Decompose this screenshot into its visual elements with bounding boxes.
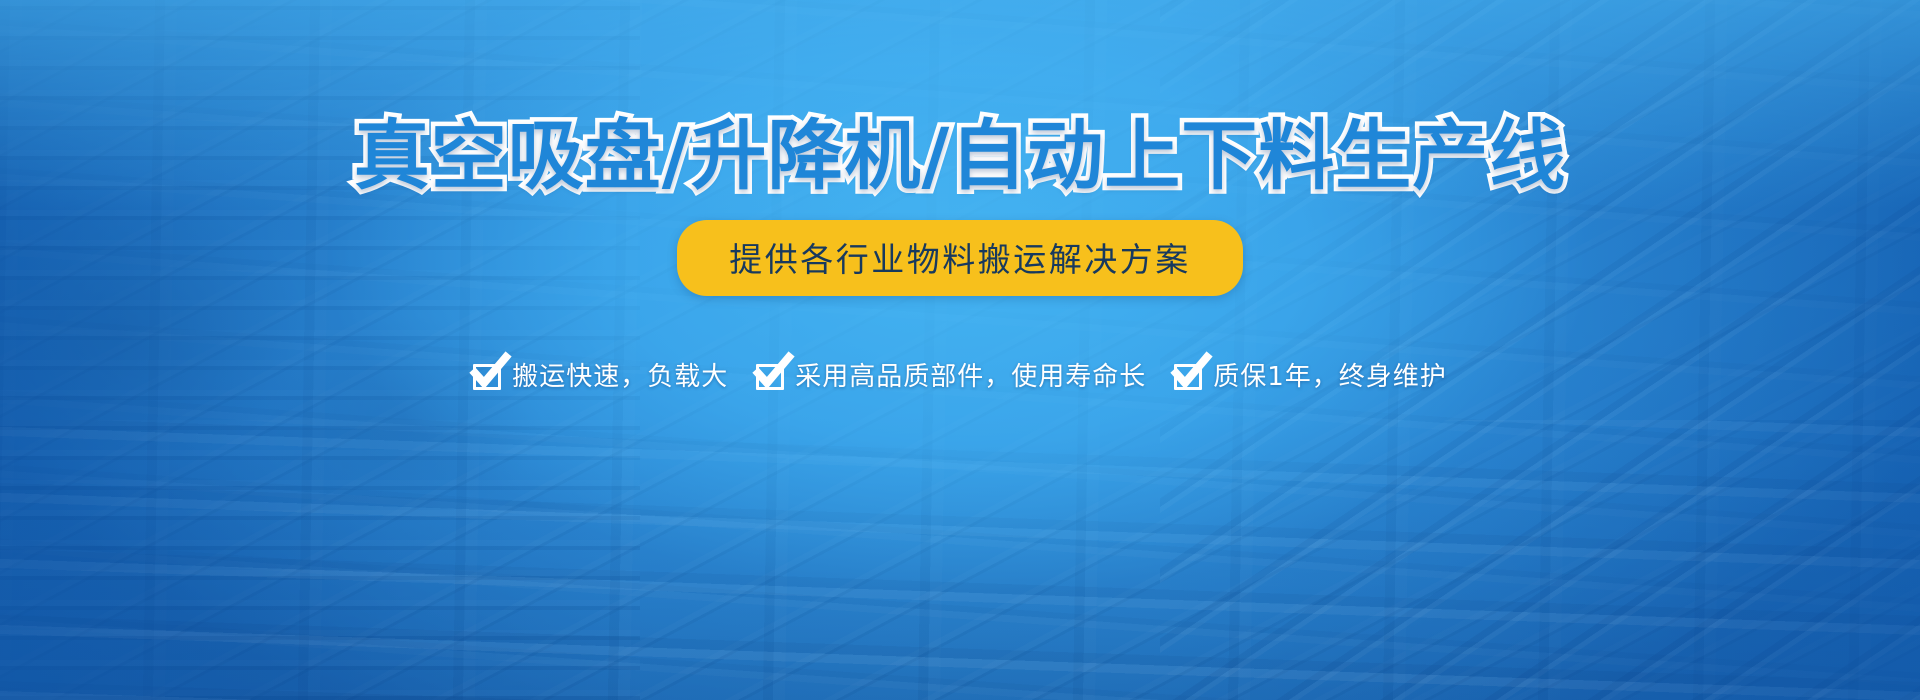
banner-headline: 真空吸盘/升降机/自动上下料生产线 — [354, 118, 1567, 194]
badge-wrapper: 提供各行业物料搬运解决方案 — [677, 220, 1243, 296]
feature-item: 搬运快速，负载大 — [473, 356, 728, 393]
feature-list: 搬运快速，负载大 采用高品质部件，使用寿命长 质保1 — [473, 356, 1447, 393]
banner-content: 真空吸盘/升降机/自动上下料生产线 提供各行业物料搬运解决方案 搬运快速，负载大 — [0, 0, 1920, 700]
feature-label: 搬运快速，负载大 — [512, 356, 728, 393]
promo-banner: 真空吸盘/升降机/自动上下料生产线 提供各行业物料搬运解决方案 搬运快速，负载大 — [0, 0, 1920, 700]
checkbox-check-icon — [473, 360, 503, 390]
feature-item: 采用高品质部件，使用寿命长 — [756, 356, 1146, 393]
feature-label: 采用高品质部件，使用寿命长 — [795, 356, 1146, 393]
feature-label: 质保1年，终身维护 — [1213, 356, 1447, 393]
checkbox-check-icon — [756, 360, 786, 390]
checkbox-check-icon — [1174, 360, 1204, 390]
tagline-badge: 提供各行业物料搬运解决方案 — [677, 220, 1243, 296]
feature-item: 质保1年，终身维护 — [1174, 356, 1447, 393]
